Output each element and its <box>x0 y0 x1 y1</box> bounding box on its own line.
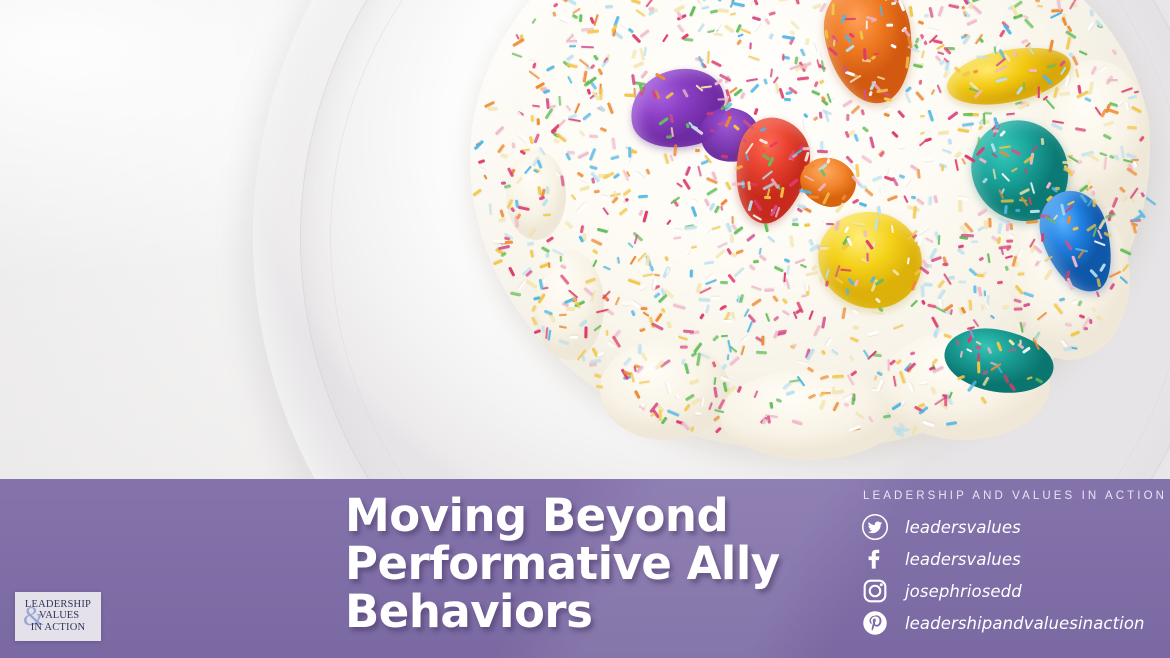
sprinkle <box>865 188 875 197</box>
sprinkle <box>531 304 536 312</box>
sprinkle <box>673 144 677 156</box>
sprinkle <box>938 279 946 288</box>
sprinkle <box>592 290 597 302</box>
sprinkle <box>543 89 551 95</box>
sprinkle <box>554 139 560 144</box>
sprinkle <box>1038 86 1040 98</box>
sprinkle <box>1121 195 1128 200</box>
sprinkle <box>584 277 596 284</box>
sprinkle <box>546 253 550 259</box>
sprinkle <box>798 189 811 194</box>
sprinkle <box>1011 149 1021 156</box>
sprinkle <box>1121 87 1133 93</box>
pinterest-handle: leadershipandvaluesinaction <box>905 614 1145 633</box>
sprinkle <box>704 198 710 206</box>
sprinkle <box>933 39 943 44</box>
sprinkle <box>970 2 973 9</box>
social-media-graphic: Moving Beyond Performative Ally Behavior… <box>0 0 1170 658</box>
sprinkle <box>977 353 980 362</box>
sprinkle <box>855 411 865 419</box>
sprinkle <box>1004 265 1008 271</box>
sprinkle <box>600 127 607 132</box>
sprinkle <box>832 374 844 378</box>
sprinkle <box>875 297 881 303</box>
sprinkle <box>630 300 642 309</box>
sprinkle <box>553 3 559 8</box>
sprinkle <box>726 354 729 360</box>
sprinkle <box>1041 232 1044 241</box>
sprinkle <box>886 195 897 202</box>
sprinkle <box>746 78 758 82</box>
sprinkle <box>997 281 1003 284</box>
sprinkle <box>769 11 776 16</box>
social-heading: LEADERSHIP AND VALUES IN ACTION <box>863 490 1161 502</box>
sprinkle <box>567 150 575 154</box>
sprinkle <box>609 155 619 161</box>
sprinkle <box>724 24 735 33</box>
sprinkle <box>861 108 865 115</box>
sprinkle <box>515 177 522 185</box>
sprinkle <box>736 385 741 393</box>
sprinkle <box>919 225 930 234</box>
sprinkle <box>691 399 701 407</box>
sprinkle <box>701 6 710 10</box>
sprinkle <box>934 195 938 204</box>
sprinkle <box>683 403 690 411</box>
sprinkle <box>866 20 868 29</box>
sprinkle <box>765 18 772 26</box>
sprinkle <box>1127 125 1137 129</box>
sprinkle <box>919 115 924 117</box>
sprinkle <box>740 345 745 355</box>
sprinkle <box>658 410 661 421</box>
sprinkle <box>1008 383 1015 392</box>
sprinkle <box>888 169 892 176</box>
sprinkle <box>1069 330 1079 336</box>
sprinkle <box>761 336 764 346</box>
sprinkle <box>937 85 942 94</box>
sprinkle <box>592 55 598 62</box>
sprinkle <box>690 269 693 277</box>
sprinkle <box>1122 264 1130 272</box>
sprinkle <box>1111 49 1117 55</box>
sprinkle <box>984 220 988 229</box>
sprinkle <box>984 291 987 297</box>
sprinkle <box>735 165 744 171</box>
sprinkle <box>559 120 566 128</box>
sprinkle <box>806 283 809 291</box>
sprinkle <box>1084 96 1092 102</box>
instagram-icon <box>861 577 889 605</box>
sprinkle <box>1066 277 1074 290</box>
sprinkle <box>802 119 807 130</box>
sprinkle <box>577 171 584 177</box>
sprinkle <box>1120 249 1131 256</box>
sprinkle <box>883 113 889 117</box>
sprinkle <box>510 207 516 213</box>
sprinkle <box>664 256 669 262</box>
sprinkle <box>597 68 603 75</box>
sprinkle <box>892 269 900 276</box>
sprinkle <box>756 351 768 354</box>
sprinkle <box>1047 64 1056 69</box>
sprinkle <box>1027 45 1034 54</box>
sprinkle <box>591 239 603 247</box>
sprinkle <box>948 275 955 279</box>
sprinkle <box>1030 209 1040 212</box>
social-block: LEADERSHIP AND VALUES IN ACTION leadersv… <box>861 490 1161 639</box>
sprinkle <box>740 92 746 100</box>
sprinkle <box>585 0 596 3</box>
sprinkle <box>990 314 996 319</box>
sprinkle <box>874 375 878 381</box>
sprinkle <box>577 203 587 214</box>
sprinkle <box>518 206 530 211</box>
sprinkle <box>736 40 741 46</box>
sprinkle <box>572 8 580 14</box>
sprinkle <box>1011 167 1018 172</box>
sprinkle <box>821 60 826 72</box>
sprinkle <box>594 190 600 194</box>
sprinkle <box>1119 186 1126 193</box>
sprinkle <box>821 316 826 328</box>
sprinkle <box>732 311 736 318</box>
sprinkle <box>606 309 615 316</box>
sprinkle <box>944 334 952 339</box>
sprinkle <box>711 361 716 368</box>
sprinkle <box>983 113 986 125</box>
sprinkle <box>999 30 1005 38</box>
sprinkle <box>1043 269 1052 281</box>
sprinkle <box>590 64 596 70</box>
sprinkle <box>868 330 879 335</box>
sprinkle <box>593 374 601 378</box>
sprinkle <box>906 56 910 69</box>
sprinkle <box>1066 37 1071 50</box>
sprinkle <box>769 33 774 39</box>
sprinkle <box>546 187 549 195</box>
sprinkle <box>553 11 557 17</box>
sprinkle <box>643 273 654 277</box>
sprinkle <box>750 43 752 50</box>
sprinkle <box>910 280 916 290</box>
sprinkle <box>1075 68 1079 77</box>
sprinkle <box>667 410 680 417</box>
sprinkle <box>720 375 730 382</box>
sprinkle <box>1046 195 1053 202</box>
sprinkle <box>969 299 973 311</box>
sprinkle <box>1062 161 1071 164</box>
sprinkle <box>976 56 988 59</box>
sprinkle <box>831 3 834 15</box>
sprinkle <box>704 261 714 265</box>
sprinkle <box>618 207 628 216</box>
sprinkle <box>807 394 815 400</box>
sprinkle <box>709 402 713 410</box>
sprinkle <box>754 390 759 398</box>
sprinkle <box>706 111 714 115</box>
sprinkle <box>1014 299 1022 304</box>
sprinkle <box>631 74 636 85</box>
sprinkle <box>695 149 700 152</box>
sprinkle <box>905 86 912 93</box>
page-title: Moving Beyond Performative Ally Behavior… <box>345 492 865 636</box>
sprinkle <box>956 375 965 381</box>
sprinkle <box>739 294 744 304</box>
sprinkle <box>654 274 660 277</box>
sprinkle <box>925 237 934 243</box>
sprinkle <box>630 0 640 4</box>
sprinkle <box>741 335 750 343</box>
logo-inner: & LEADERSHIP VALUES IN ACTION <box>19 596 97 638</box>
sprinkle <box>752 21 761 32</box>
sprinkle <box>863 230 867 238</box>
sprinkle <box>1087 152 1099 161</box>
sprinkle <box>665 92 674 100</box>
sprinkle <box>861 155 872 164</box>
sprinkle <box>993 168 997 179</box>
sprinkle <box>819 375 828 381</box>
sprinkle <box>991 152 998 158</box>
sprinkle <box>560 174 565 186</box>
sprinkle <box>877 76 885 81</box>
sprinkle <box>1026 221 1038 225</box>
sprinkle <box>727 340 732 353</box>
sprinkle <box>639 380 650 384</box>
sprinkle <box>512 52 523 58</box>
sprinkle <box>1114 154 1120 160</box>
sprinkle <box>638 195 648 198</box>
twitter-icon <box>861 513 889 541</box>
sprinkle <box>1096 291 1100 297</box>
sprinkle <box>822 192 830 205</box>
social-row-pinterest[interactable]: leadershipandvaluesinaction <box>861 607 1161 639</box>
sprinkle <box>890 43 896 48</box>
sprinkle <box>1008 349 1016 353</box>
sprinkle <box>862 349 869 359</box>
sprinkle <box>789 177 800 187</box>
sprinkle <box>577 151 589 159</box>
sprinkle <box>877 371 884 377</box>
sprinkle <box>714 79 723 86</box>
sprinkle <box>770 69 773 78</box>
sprinkle <box>835 265 841 278</box>
sprinkle <box>1091 190 1095 196</box>
sprinkle <box>713 0 722 2</box>
sprinkle <box>924 283 933 286</box>
sprinkle <box>695 412 702 415</box>
sprinkle <box>842 99 852 107</box>
sprinkle <box>478 159 486 164</box>
sprinkle <box>774 266 784 273</box>
sprinkle <box>966 348 973 353</box>
sprinkle <box>859 202 868 207</box>
sprinkle <box>589 165 597 170</box>
sprinkle <box>975 345 982 350</box>
sprinkle <box>717 399 724 410</box>
sprinkle <box>560 16 569 22</box>
sprinkle <box>721 335 728 337</box>
sprinkle <box>841 194 847 200</box>
sprinkle <box>1145 197 1156 206</box>
sprinkle <box>1093 240 1105 246</box>
sprinkle <box>1066 216 1071 225</box>
sprinkle <box>950 308 954 315</box>
sprinkle <box>578 59 589 68</box>
sprinkle <box>710 129 716 133</box>
sprinkle <box>942 165 944 171</box>
sprinkle <box>749 84 759 94</box>
sprinkle <box>868 415 874 422</box>
sprinkle <box>1001 304 1009 308</box>
sprinkle <box>842 307 847 319</box>
sprinkle <box>1063 347 1073 351</box>
sprinkle <box>719 281 727 285</box>
sprinkle <box>849 355 854 362</box>
sprinkle <box>879 187 883 193</box>
sprinkle <box>872 176 882 182</box>
sprinkle <box>979 256 985 261</box>
sprinkle <box>532 104 540 107</box>
sprinkle <box>850 370 858 377</box>
sprinkle <box>789 29 795 35</box>
sprinkle <box>690 245 696 249</box>
sprinkle <box>685 166 691 177</box>
sprinkle <box>814 81 818 87</box>
sprinkle <box>584 233 587 241</box>
logo-line-values: VALUES <box>39 610 97 621</box>
sprinkle <box>529 136 534 144</box>
sprinkle <box>1119 276 1128 284</box>
sprinkle <box>680 422 689 431</box>
sprinkle <box>871 54 877 60</box>
sprinkle <box>566 54 575 61</box>
sprinkle <box>504 184 511 189</box>
sprinkle <box>574 103 580 114</box>
sprinkle <box>931 357 938 364</box>
sprinkle <box>619 25 626 31</box>
sprinkle <box>947 110 958 120</box>
sprinkle <box>770 401 774 409</box>
sprinkle <box>1108 109 1120 115</box>
sprinkle <box>995 78 1007 83</box>
sprinkle <box>689 6 696 17</box>
sprinkle <box>782 53 784 60</box>
sprinkle <box>907 257 910 264</box>
sprinkle <box>1080 194 1088 203</box>
sprinkle <box>722 320 732 323</box>
sprinkle <box>953 66 960 73</box>
sprinkle <box>988 218 992 228</box>
sprinkle <box>998 237 1002 244</box>
sprinkle <box>1077 300 1082 306</box>
social-row-instagram[interactable]: josephriosedd <box>861 575 1161 607</box>
sprinkle <box>691 206 697 217</box>
sprinkle <box>746 321 753 333</box>
sprinkle <box>1004 204 1008 214</box>
sprinkle <box>769 141 778 148</box>
sprinkle <box>784 97 791 100</box>
sprinkle <box>773 315 779 321</box>
sprinkle <box>1044 255 1053 262</box>
sprinkle <box>1055 187 1060 190</box>
sprinkle <box>781 299 787 305</box>
sprinkle <box>707 50 710 63</box>
sprinkle <box>867 252 870 261</box>
sprinkle <box>674 229 682 234</box>
sprinkle <box>1020 340 1022 345</box>
sprinkle <box>928 109 935 121</box>
sprinkle <box>828 47 838 56</box>
sprinkle <box>529 71 540 80</box>
sprinkle <box>1000 172 1009 182</box>
sprinkle <box>843 65 848 72</box>
sprinkle <box>948 4 960 9</box>
sprinkle <box>818 80 824 85</box>
sprinkle <box>580 185 590 191</box>
sprinkle <box>567 76 572 84</box>
sprinkle <box>474 140 484 150</box>
sprinkle <box>797 361 808 366</box>
sprinkle <box>643 311 650 317</box>
sprinkle <box>965 154 977 163</box>
sprinkle <box>993 130 999 133</box>
sprinkles-layer <box>0 0 1170 480</box>
sprinkle <box>979 157 987 163</box>
sprinkle <box>929 196 933 205</box>
sprinkle <box>949 392 954 399</box>
sprinkle <box>552 248 563 255</box>
sprinkle <box>883 415 891 419</box>
sprinkle <box>919 381 928 385</box>
sprinkle <box>987 347 993 355</box>
sprinkle <box>655 72 666 80</box>
sprinkle <box>943 71 948 78</box>
sprinkle <box>973 69 979 74</box>
sprinkle <box>624 93 635 97</box>
sprinkle <box>1023 291 1035 298</box>
sprinkle <box>712 226 721 231</box>
sprinkle <box>913 426 919 436</box>
sprinkle <box>977 208 988 217</box>
sprinkle <box>812 265 818 271</box>
social-row-facebook[interactable]: leadersvalues <box>861 543 1161 575</box>
sprinkle <box>725 181 732 190</box>
sprinkle <box>1001 200 1014 203</box>
sprinkle <box>818 183 826 192</box>
sprinkle <box>1103 134 1112 140</box>
sprinkle <box>819 168 826 176</box>
sprinkle <box>921 50 925 58</box>
sprinkle <box>667 321 673 329</box>
sprinkle <box>796 208 802 213</box>
social-row-twitter[interactable]: leadersvalues <box>861 511 1161 543</box>
sprinkle <box>651 322 664 330</box>
sprinkle <box>645 169 650 176</box>
sprinkle <box>1076 160 1082 165</box>
sprinkle <box>545 65 554 72</box>
sprinkle <box>772 294 779 302</box>
sprinkle <box>602 207 609 216</box>
sprinkle <box>580 178 588 183</box>
sprinkle <box>670 127 674 137</box>
sprinkle <box>636 9 647 17</box>
sprinkle <box>488 108 498 111</box>
sprinkle <box>715 427 722 434</box>
sprinkle <box>684 362 690 374</box>
sprinkle <box>991 143 997 152</box>
sprinkle <box>493 259 503 266</box>
